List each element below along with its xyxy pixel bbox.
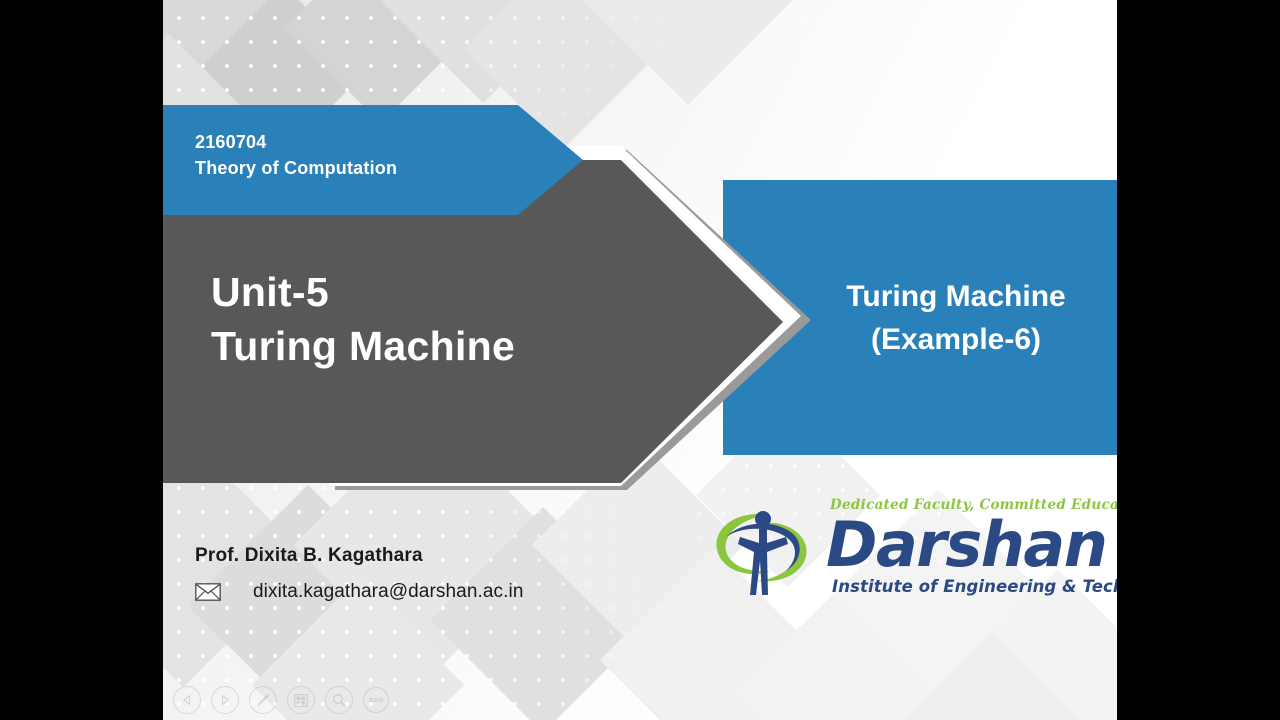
course-subject: Theory of Computation — [195, 155, 397, 181]
player-toolbar[interactable] — [173, 686, 389, 714]
triangle-left-icon — [181, 694, 193, 706]
grid-slides-icon — [294, 694, 308, 707]
previous-slide-button[interactable] — [173, 686, 201, 714]
next-slide-button[interactable] — [211, 686, 239, 714]
darshan-logo: Dedicated Faculty, Committed Education D… — [708, 495, 1088, 605]
more-options-button[interactable] — [363, 687, 389, 713]
course-banner-text: 2160704 Theory of Computation — [195, 129, 397, 181]
video-player-stage: Turing Machine (Example-6) Unit-5 Turing… — [0, 0, 1280, 720]
pen-icon — [256, 693, 270, 707]
triangle-right-icon — [219, 694, 231, 706]
logo-wordmark: Darshan — [826, 508, 1106, 581]
pen-tool-button[interactable] — [249, 686, 277, 714]
zoom-button[interactable] — [325, 686, 353, 714]
unit-title: Unit-5 Turing Machine — [211, 265, 515, 373]
ellipsis-icon — [368, 697, 384, 703]
letterbox-bar-left — [0, 0, 163, 720]
envelope-icon — [195, 583, 221, 601]
presentation-slide: Turing Machine (Example-6) Unit-5 Turing… — [163, 0, 1117, 720]
darshan-swirl-figure-icon — [708, 499, 818, 599]
unit-title-line1: Unit-5 — [211, 265, 515, 319]
course-code: 2160704 — [195, 129, 397, 155]
background-dot-grid-top-right — [763, 0, 1117, 170]
presenter-name: Prof. Dixita B. Kagathara — [195, 545, 524, 567]
presenter-email: dixita.kagathara@darshan.ac.in — [253, 581, 524, 603]
course-banner: 2160704 Theory of Computation — [163, 105, 583, 215]
magnifier-icon — [332, 693, 346, 707]
letterbox-bar-right — [1117, 0, 1280, 720]
topic-title-line1: Turing Machine — [803, 276, 1109, 319]
topic-title-line2: (Example-6) — [803, 319, 1109, 362]
logo-subtitle: Institute of Engineering & Technology — [832, 577, 1117, 596]
presenter-block: Prof. Dixita B. Kagathara dixita.kagatha… — [195, 545, 524, 603]
unit-title-line2: Turing Machine — [211, 319, 515, 373]
all-slides-button[interactable] — [287, 686, 315, 714]
presenter-email-row: dixita.kagathara@darshan.ac.in — [195, 581, 524, 603]
